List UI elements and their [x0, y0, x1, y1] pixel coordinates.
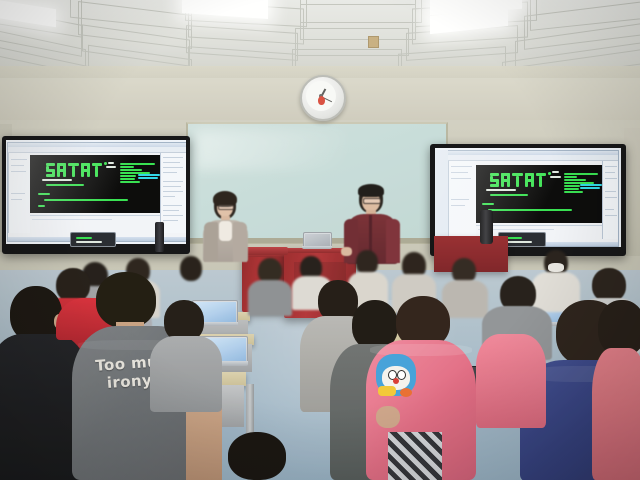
- stata-right-pane: [160, 153, 186, 233]
- stata-right-pane-right: [602, 161, 619, 239]
- student-hand: [376, 406, 400, 428]
- student-torso: [592, 348, 640, 480]
- presenter-blouse: [219, 221, 232, 241]
- presenter2-hair: [358, 184, 384, 197]
- presenter-glasses: [218, 205, 234, 210]
- classroom-photo: 国 Too much irony !: [0, 0, 640, 480]
- whiteboard-glare: [196, 130, 346, 170]
- microphone-stand: [155, 222, 164, 252]
- student-body: [248, 280, 292, 316]
- student-left-gray: [150, 300, 222, 410]
- ceiling: [0, 0, 640, 72]
- student-right-pink: [592, 300, 640, 480]
- stata-left-pane-right: [448, 161, 476, 239]
- presenter2-glasses: [363, 198, 381, 204]
- clock-pendant: [318, 96, 325, 105]
- student-pink-hoodie: [366, 310, 476, 480]
- stata-console-right: [476, 165, 602, 223]
- student-torso: [150, 336, 222, 412]
- wall-panel-right: [624, 128, 640, 256]
- presenter2-hand: [341, 247, 352, 256]
- plaid-garment: [388, 432, 442, 480]
- student-head: [180, 256, 202, 281]
- student-head: [228, 432, 286, 480]
- ceiling-sensor: [368, 36, 379, 48]
- student-face-mask: [548, 263, 564, 272]
- student-center-dark: [208, 432, 304, 480]
- student-pink-row: [476, 318, 546, 428]
- stata-left-pane: [8, 153, 30, 233]
- student-head: [96, 272, 156, 328]
- presenter-laptop: [302, 232, 332, 249]
- female-presenter: [200, 192, 252, 270]
- screen-popup-left: [70, 232, 116, 247]
- student-torso: [476, 334, 546, 428]
- stata-console: [30, 155, 160, 213]
- student-head: [592, 268, 626, 302]
- speaker-cylinder: [480, 210, 493, 244]
